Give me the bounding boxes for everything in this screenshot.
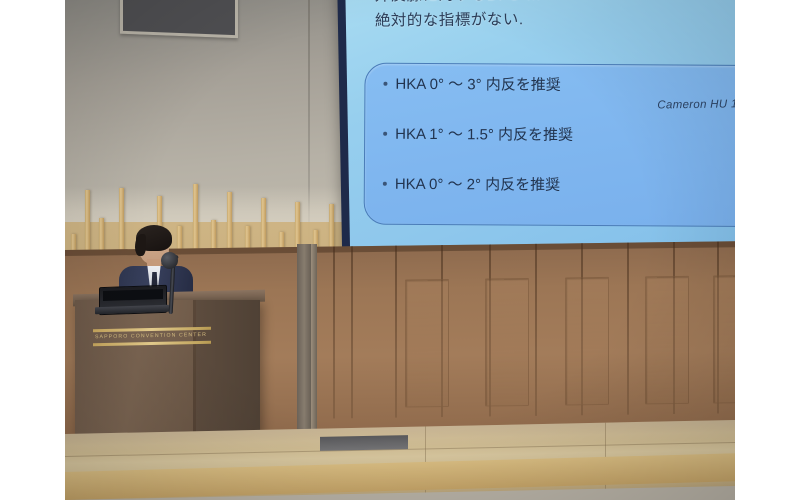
- panel-groove: [333, 246, 335, 418]
- wall-panel-inset: [713, 275, 735, 404]
- slide-bullet-item: HKA 1° 〜 1.5° 内反を推奨: [383, 126, 735, 146]
- slide-header: 外反膝に対するDFO … 絶対的な指標がない.: [375, 0, 705, 40]
- podium-side-face: [196, 300, 260, 440]
- ceiling-acoustic-panel: [120, 0, 238, 38]
- slide-bullet-text: HKA 0° 〜 2° 内反を推奨: [395, 176, 560, 194]
- panel-groove: [395, 246, 397, 418]
- conference-photograph: 外反膝に対するDFO … 絶対的な指標がない. HKA 0° 〜 3° 内反を推…: [65, 0, 735, 500]
- bullet-dot-icon: [383, 132, 387, 136]
- slide-citation: Cameron HU 1997,: [657, 98, 735, 112]
- slide-header-line-2: 絶対的な指標がない.: [375, 6, 705, 32]
- slide-bullet-text: HKA 1° 〜 1.5° 内反を推奨: [395, 126, 573, 144]
- wall-column-edge: [311, 244, 317, 434]
- laptop-screen: [103, 289, 163, 301]
- slide-bullet-text: HKA 0° 〜 3° 内反を推奨: [395, 76, 560, 94]
- wall-panel-inset: [645, 276, 689, 405]
- wall-panel-inset: [565, 277, 609, 406]
- slide-bullet-item: HKA 0° 〜 2° 内反を推奨: [383, 176, 735, 196]
- microphone-icon: [161, 252, 178, 269]
- panel-groove: [627, 243, 629, 415]
- panel-groove: [535, 244, 537, 416]
- bullet-dot-icon: [383, 182, 387, 186]
- slide-callout-box: HKA 0° 〜 3° 内反を推奨 Cameron HU 1997, HKA 1…: [364, 63, 735, 227]
- bullet-dot-icon: [383, 82, 387, 86]
- lectern-podium: SAPPORO CONVENTION CENTER: [75, 300, 260, 440]
- wall-panel-inset: [485, 278, 529, 407]
- slide-bullet-item: HKA 0° 〜 3° 内反を推奨: [383, 76, 735, 96]
- screenshot-canvas: 外反膝に対するDFO … 絶対的な指標がない. HKA 0° 〜 3° 内反を推…: [0, 0, 800, 500]
- panel-groove: [351, 246, 353, 418]
- presenter-hair-side: [135, 234, 146, 256]
- floor-mat: [320, 435, 408, 451]
- wall-panel-inset: [405, 279, 449, 408]
